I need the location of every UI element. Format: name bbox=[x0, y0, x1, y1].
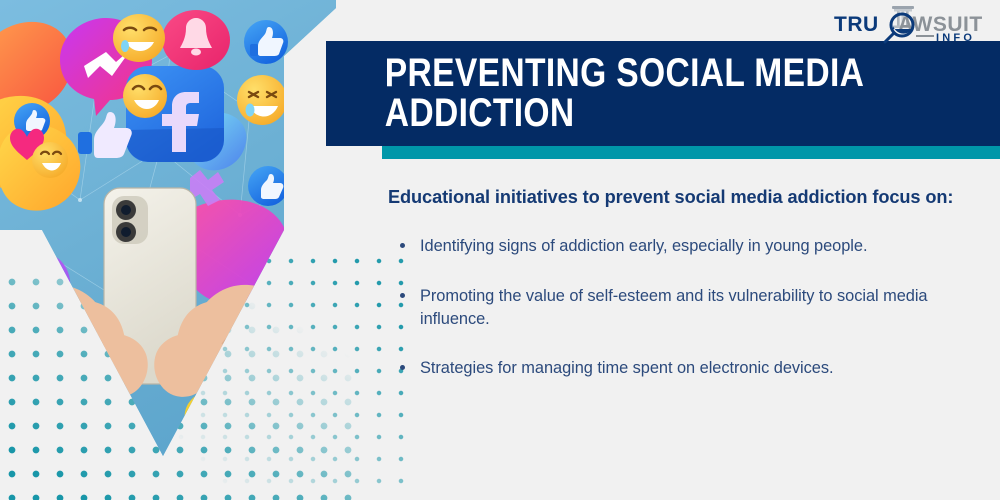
infographic-canvas: PREVENTING SOCIAL MEDIA ADDICTION Educat… bbox=[0, 0, 1000, 500]
intro-text: Educational initiatives to prevent socia… bbox=[388, 185, 954, 209]
trulawsuitinfo-logo-icon: TRU AWSUIT INFO bbox=[830, 4, 986, 44]
title-banner: PREVENTING SOCIAL MEDIA ADDICTION bbox=[326, 41, 1000, 146]
accent-bar bbox=[382, 146, 1000, 159]
list-item: Promoting the value of self-esteem and i… bbox=[388, 285, 954, 332]
svg-text:TRU: TRU bbox=[834, 13, 879, 36]
content-column: Educational initiatives to prevent socia… bbox=[388, 185, 954, 406]
list-item: Identifying signs of addiction early, es… bbox=[388, 235, 954, 258]
svg-text:INFO: INFO bbox=[936, 32, 975, 44]
photo-panel bbox=[0, 0, 336, 470]
bullet-list: Identifying signs of addiction early, es… bbox=[388, 235, 954, 380]
social-media-photo bbox=[0, 0, 336, 470]
list-item: Strategies for managing time spent on el… bbox=[388, 357, 954, 380]
brand-logo[interactable]: TRU AWSUIT INFO bbox=[830, 4, 986, 44]
page-title: PREVENTING SOCIAL MEDIA ADDICTION bbox=[326, 54, 864, 132]
